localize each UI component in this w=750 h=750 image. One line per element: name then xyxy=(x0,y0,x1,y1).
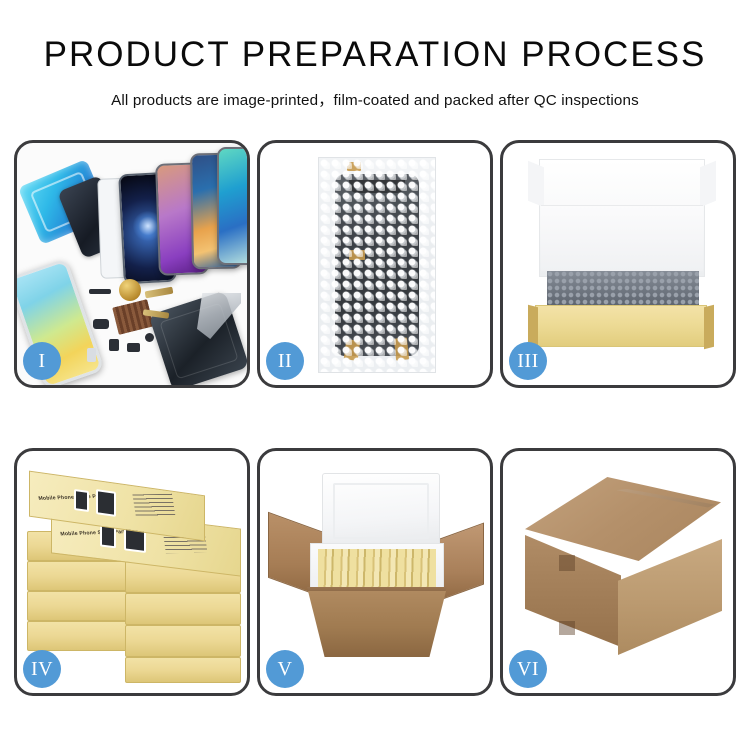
step-panel-5[interactable]: V xyxy=(257,448,493,696)
dark-foam-padding-icon xyxy=(547,271,699,307)
step-badge-3: III xyxy=(509,342,547,380)
carton-tab-upper-icon xyxy=(559,555,575,571)
yellow-boxes-inside-icon xyxy=(318,549,436,589)
camera-module-icon xyxy=(93,319,109,329)
sim-tray-icon xyxy=(87,348,96,362)
box-window-icon xyxy=(96,489,116,517)
bubble-wrap-bag-icon xyxy=(318,157,436,373)
page-title: PRODUCT PREPARATION PROCESS xyxy=(0,36,750,75)
step-panel-1[interactable]: I xyxy=(14,140,250,388)
step-badge-1: I xyxy=(23,342,61,380)
bubble-highlight-icon xyxy=(319,158,435,372)
step-panel-4[interactable]: Mobile Phone Spare Parts Mobile Phone Sp… xyxy=(14,448,250,696)
box-spec-lines xyxy=(132,494,175,518)
step-panel-3[interactable]: III xyxy=(500,140,736,388)
stacked-box xyxy=(27,561,127,591)
screw-icon xyxy=(145,333,154,342)
process-step-grid: I II xyxy=(14,140,736,690)
carton-front-icon xyxy=(308,591,446,657)
box-foam-sheet-icon xyxy=(541,205,703,271)
page-subtitle: All products are image-printed，film-coat… xyxy=(0,88,750,110)
connector-icon xyxy=(127,343,140,352)
step-badge-5: V xyxy=(266,650,304,688)
step-panel-2[interactable]: II xyxy=(257,140,493,388)
box-window-icon xyxy=(74,489,89,512)
step-panel-6[interactable]: VI xyxy=(500,448,736,696)
small-part-icon xyxy=(109,339,119,351)
step-badge-2: II xyxy=(266,342,304,380)
speaker-module-icon xyxy=(119,279,141,301)
box-label-text: Mobile Phone Spare Parts xyxy=(60,529,129,537)
flex-cable-icon xyxy=(145,287,174,299)
stacked-box xyxy=(125,657,241,683)
logic-board-icon xyxy=(112,299,154,335)
stacked-box xyxy=(125,593,241,625)
step-badge-4: IV xyxy=(23,650,61,688)
page-header: PRODUCT PREPARATION PROCESS All products… xyxy=(0,0,750,110)
phone-display-teal-icon xyxy=(217,147,247,265)
box-stack-icon: Mobile Phone Spare Parts Mobile Phone Sp… xyxy=(25,469,247,681)
chip-icon xyxy=(89,289,111,294)
stacked-box xyxy=(27,621,127,651)
carton-tab-lower-icon xyxy=(559,621,575,635)
foam-lid-icon xyxy=(322,473,440,549)
step-badge-6: VI xyxy=(509,650,547,688)
stacked-box xyxy=(27,591,127,621)
stacked-box xyxy=(125,625,241,657)
yellow-box-front-icon xyxy=(535,305,707,347)
product-preparation-page: PRODUCT PREPARATION PROCESS All products… xyxy=(0,0,750,750)
